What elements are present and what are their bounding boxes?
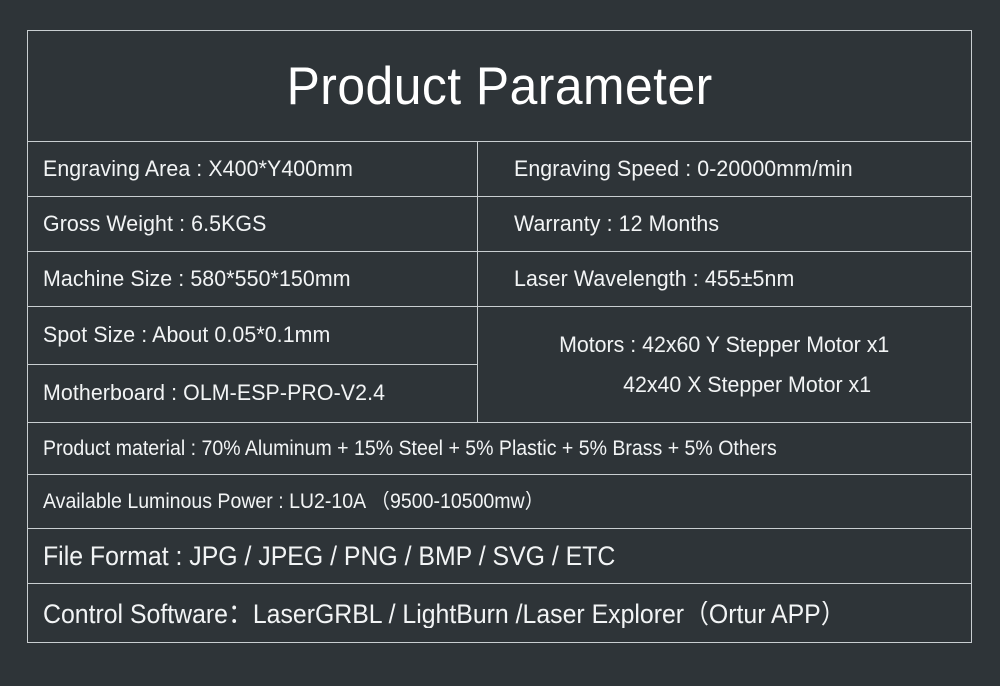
motors-value-line-2: 42x40 X Stepper Motor x1 — [578, 374, 871, 396]
cell-motherboard: Motherboard : OLM-ESP-PRO-V2.4 — [28, 365, 477, 423]
cell-gross-weight: Gross Weight : 6.5KGS — [28, 197, 478, 251]
file-format-value: File Format : JPG / JPEG / PNG / BMP / S… — [43, 543, 615, 570]
table-row: Machine Size : 580*550*150mm Laser Wavel… — [28, 252, 971, 307]
motherboard-value: Motherboard : OLM-ESP-PRO-V2.4 — [43, 382, 385, 404]
cell-warranty: Warranty : 12 Months — [478, 197, 971, 251]
table-row-motors-merged: Spot Size : About 0.05*0.1mm Motherboard… — [28, 307, 971, 423]
cell-available-luminous-power: Available Luminous Power : LU2-10A （9500… — [28, 491, 971, 512]
table-row: Available Luminous Power : LU2-10A （9500… — [28, 475, 971, 529]
spot-size-value: Spot Size : About 0.05*0.1mm — [43, 324, 330, 346]
product-parameter-table: Product Parameter Engraving Area : X400*… — [27, 30, 972, 643]
available-luminous-power-value: Available Luminous Power : LU2-10A （9500… — [43, 491, 544, 512]
table-row: Engraving Area : X400*Y400mm Engraving S… — [28, 142, 971, 197]
laser-wavelength-value: Laser Wavelength : 455±5nm — [514, 268, 794, 290]
page-title: Product Parameter — [286, 60, 712, 113]
cell-engraving-speed: Engraving Speed : 0-20000mm/min — [478, 142, 971, 196]
engraving-speed-value: Engraving Speed : 0-20000mm/min — [514, 158, 853, 180]
table-title-row: Product Parameter — [28, 31, 971, 142]
machine-size-value: Machine Size : 580*550*150mm — [43, 268, 351, 290]
cell-laser-wavelength: Laser Wavelength : 455±5nm — [478, 252, 971, 306]
warranty-value: Warranty : 12 Months — [514, 213, 719, 235]
cell-file-format: File Format : JPG / JPEG / PNG / BMP / S… — [28, 543, 971, 570]
cell-engraving-area: Engraving Area : X400*Y400mm — [28, 142, 478, 196]
table-row: Control Software：LaserGRBL / LightBurn /… — [28, 584, 971, 645]
cell-motors: Motors : 42x60 Y Stepper Motor x1 42x40 … — [478, 307, 971, 422]
table-row: File Format : JPG / JPEG / PNG / BMP / S… — [28, 529, 971, 584]
motors-left-column: Spot Size : About 0.05*0.1mm Motherboard… — [28, 307, 478, 422]
cell-spot-size: Spot Size : About 0.05*0.1mm — [28, 307, 477, 365]
control-software-value: Control Software：LaserGRBL / LightBurn /… — [43, 601, 846, 628]
engraving-area-value: Engraving Area : X400*Y400mm — [43, 158, 353, 180]
table-row: Product material : 70% Aluminum + 15% St… — [28, 423, 971, 475]
motors-value-line-1: Motors : 42x60 Y Stepper Motor x1 — [559, 334, 889, 356]
cell-machine-size: Machine Size : 580*550*150mm — [28, 252, 478, 306]
table-row: Gross Weight : 6.5KGS Warranty : 12 Mont… — [28, 197, 971, 252]
gross-weight-value: Gross Weight : 6.5KGS — [43, 213, 266, 235]
cell-product-material: Product material : 70% Aluminum + 15% St… — [28, 438, 971, 459]
cell-control-software: Control Software：LaserGRBL / LightBurn /… — [28, 601, 971, 628]
product-material-value: Product material : 70% Aluminum + 15% St… — [43, 438, 777, 459]
